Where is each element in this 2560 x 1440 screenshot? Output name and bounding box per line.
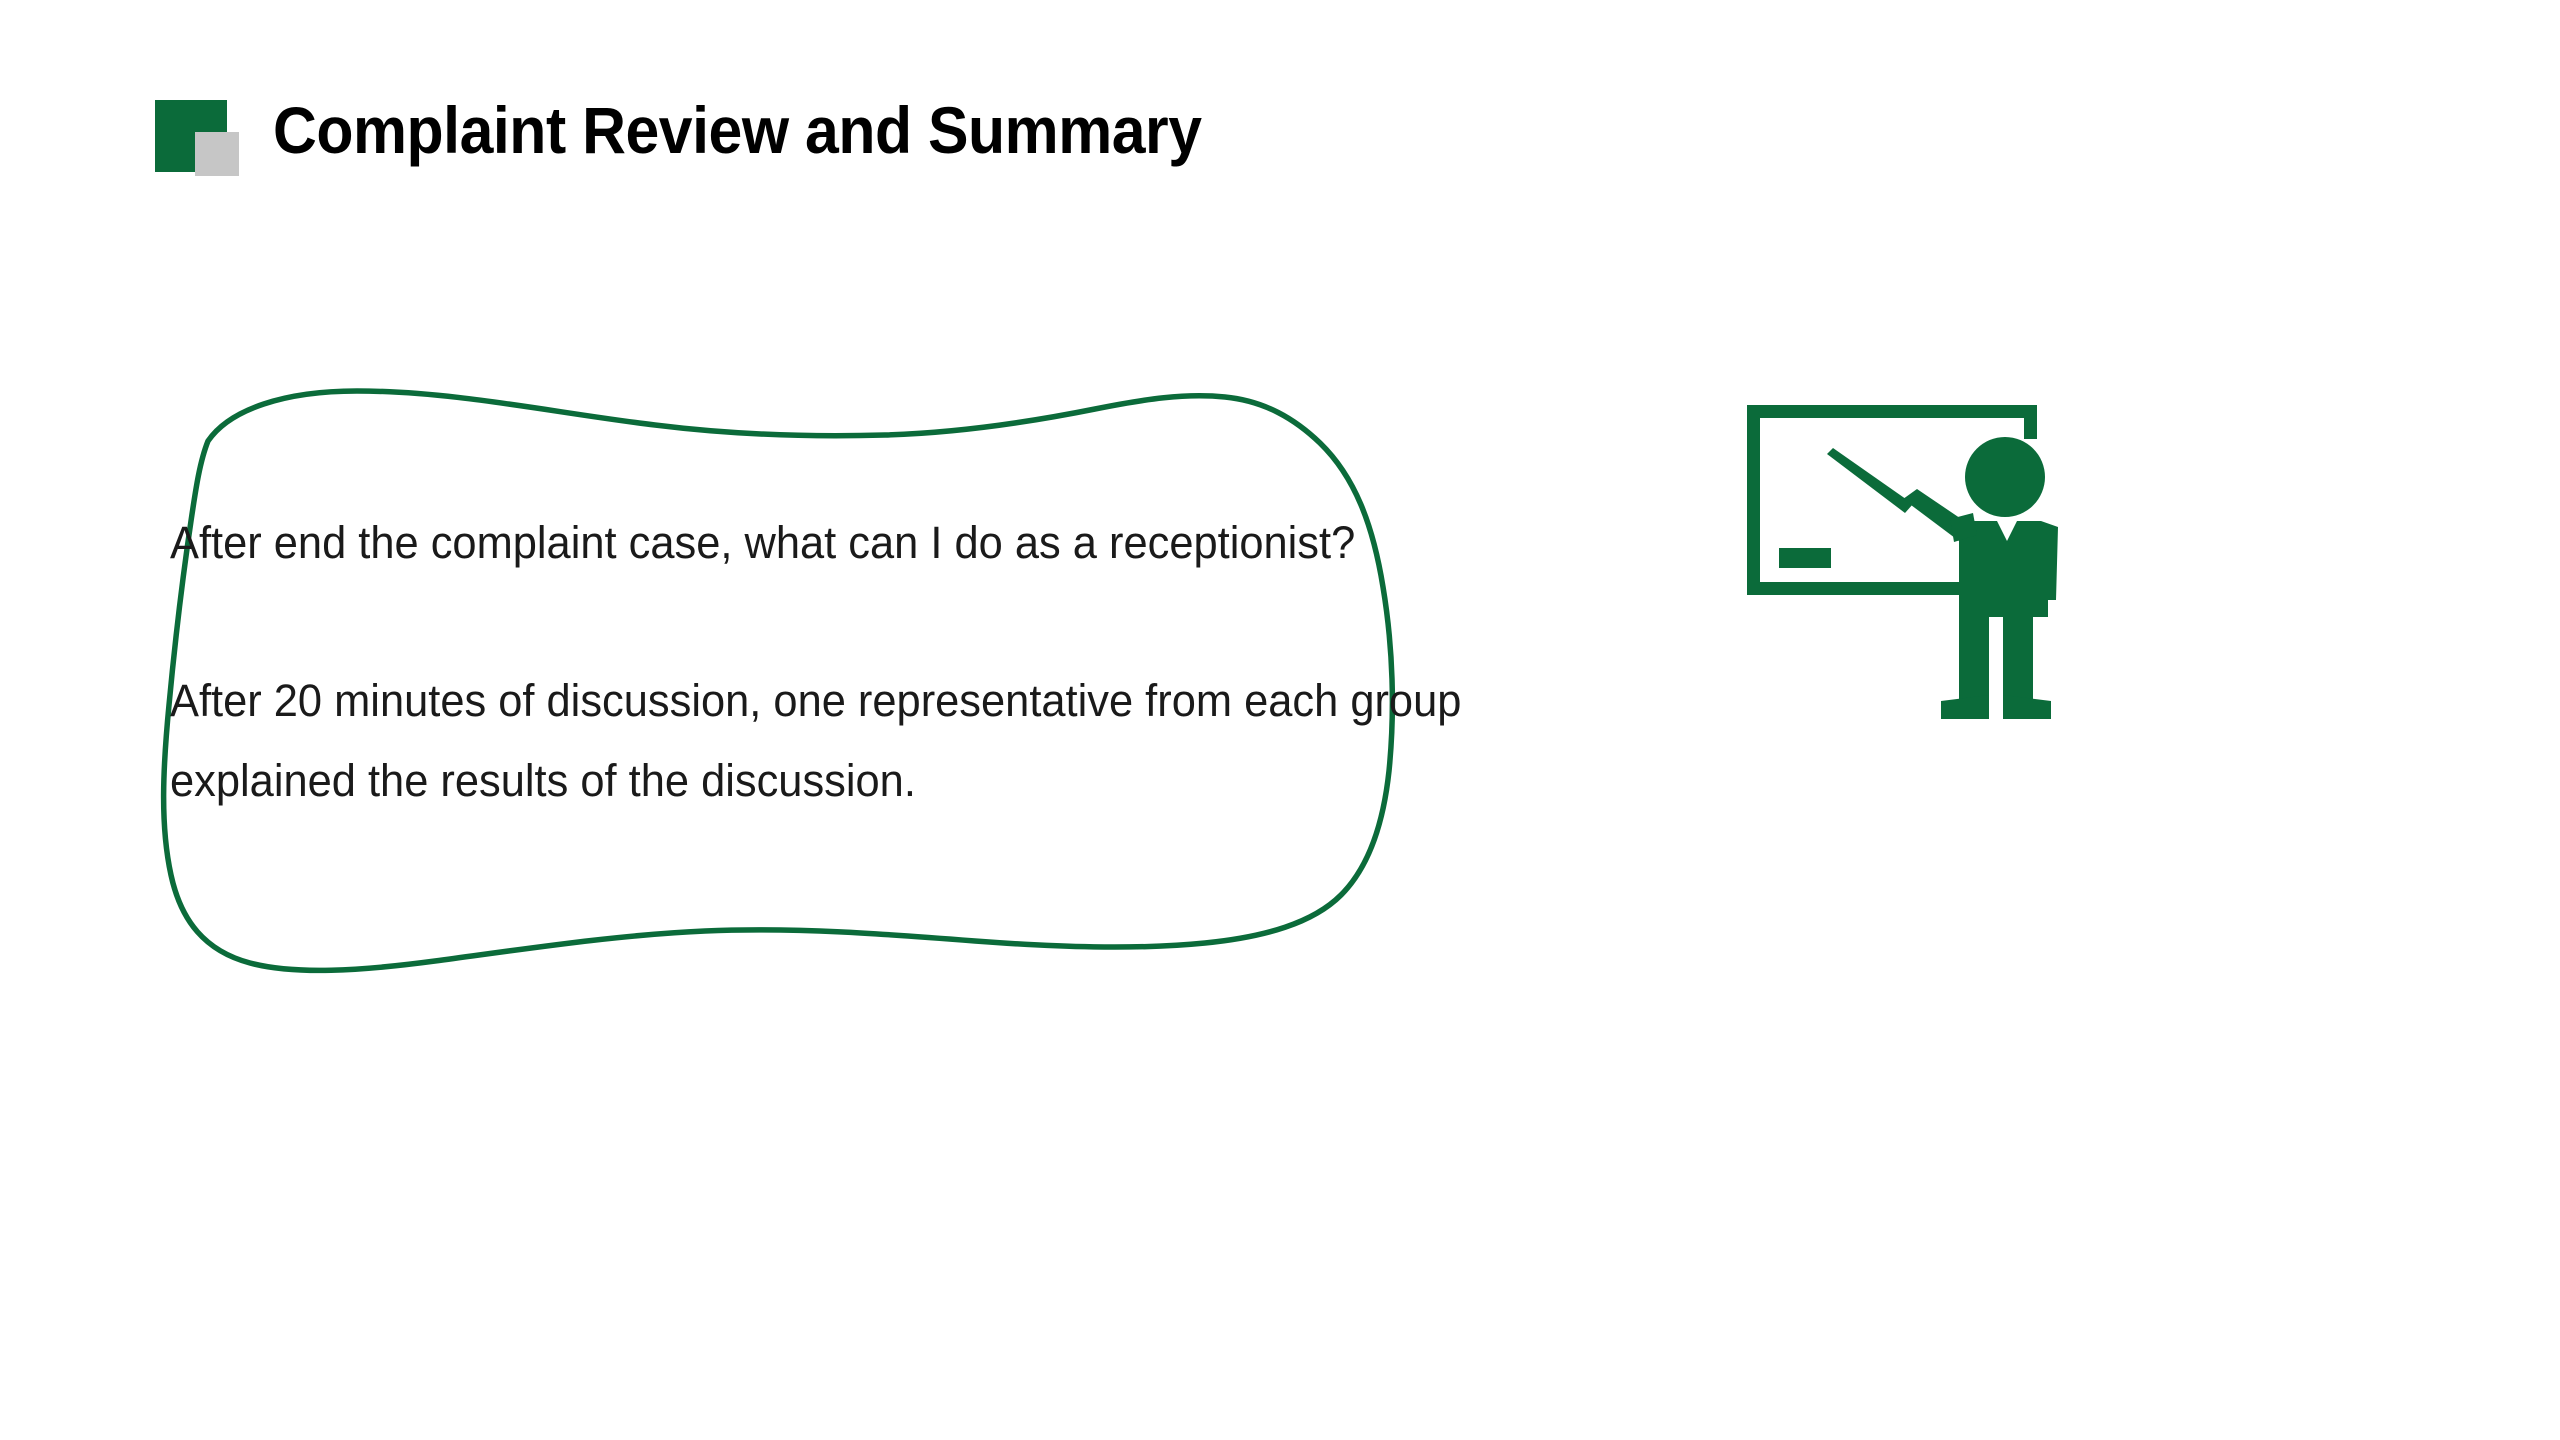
board-right-edge-stub — [2024, 405, 2037, 439]
presenter-at-board-icon — [1745, 395, 2085, 740]
presenter-head — [1965, 437, 2045, 517]
pointer-stick-tip — [1827, 448, 1913, 513]
presenter-illustration-svg — [1745, 395, 2085, 740]
logo-grey-square-icon — [195, 132, 239, 176]
bubble-paragraph-1: After end the complaint case, what can I… — [170, 503, 1618, 583]
presenter-foot-right — [2003, 695, 2051, 719]
board-bottom-edge — [1747, 582, 1969, 595]
speech-bubble-text: After end the complaint case, what can I… — [170, 503, 1670, 821]
board-top-edge — [1747, 405, 2037, 418]
slide-canvas: Complaint Review and Summary After end t… — [0, 0, 2560, 1440]
page-title: Complaint Review and Summary — [273, 97, 1202, 163]
two-square-logo-icon — [155, 82, 251, 178]
slide-header: Complaint Review and Summary — [155, 70, 1282, 190]
speech-bubble: After end the complaint case, what can I… — [95, 375, 1785, 1015]
presenter-foot-left — [1941, 695, 1989, 719]
bubble-paragraph-2: After 20 minutes of discussion, one repr… — [170, 661, 1618, 821]
board-eraser-mark — [1779, 548, 1831, 568]
board-left-edge — [1747, 405, 1760, 595]
